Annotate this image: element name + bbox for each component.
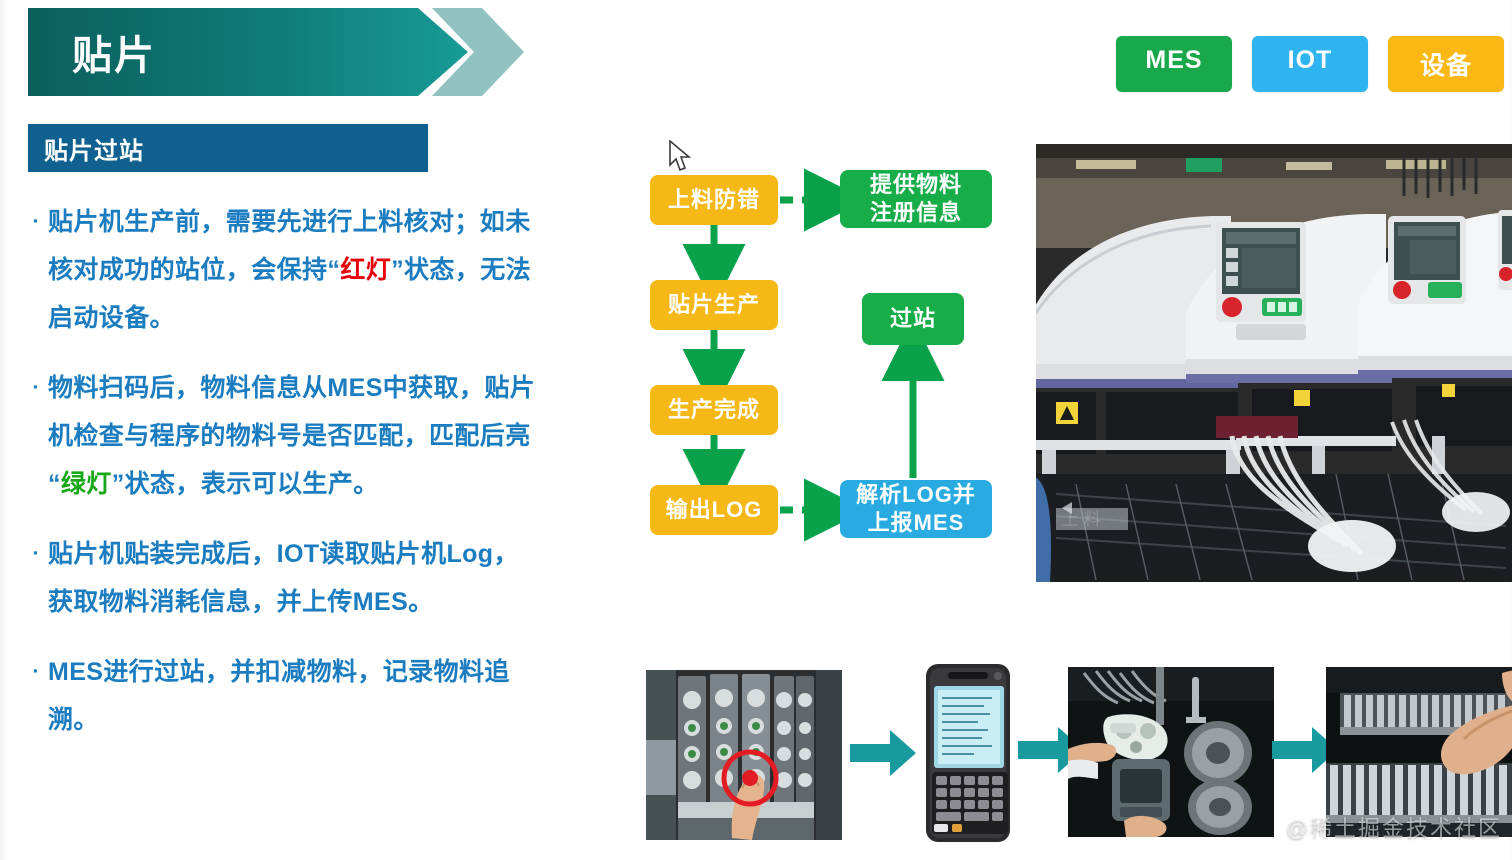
legend-chip-device[interactable]: 设备 [1388,36,1504,92]
page-edge-left [0,0,8,860]
bullet-item: ·MES进行过站，并扣减物料，记录物料追溯。 [24,648,544,744]
strip-arrow-1 [850,730,916,776]
bullet-text: 贴片机贴装完成后，IOT读取贴片机Log，获取物料消耗信息，并上传MES。 [48,530,544,626]
flow-node-log[interactable]: 输出LOG [650,485,778,535]
photo-scan-reel [1068,667,1274,837]
photo-handheld-terminal [912,660,1032,850]
flow-node-parse-line1: 解析LOG并 [856,481,976,509]
bullet-list: ·贴片机生产前，需要先进行上料核对；如未核对成功的站位，会保持“红灯”状态，无法… [24,198,544,766]
watermark: @稀土掘金技术社区 [1286,811,1502,843]
flow-node-parse[interactable]: 解析LOG并 上报MES [840,480,992,538]
bullet-item: ·物料扫码后，物料信息从MES中获取，贴片机检查与程序的物料号是否匹配，匹配后亮… [24,364,544,508]
smt-line-illustration: 上 料 [1036,144,1512,582]
svg-text:上 料: 上 料 [1062,510,1101,529]
flow-node-done[interactable]: 生产完成 [650,385,778,435]
process-photo-strip: @稀土掘金技术社区 [640,655,1512,855]
bullet-text: 物料扫码后，物料信息从MES中获取，贴片机检查与程序的物料号是否匹配，匹配后亮“… [48,364,544,508]
bullet-item: ·贴片机贴装完成后，IOT读取贴片机Log，获取物料消耗信息，并上传MES。 [24,530,544,626]
bullet-marker: · [24,648,48,744]
bullet-marker: · [24,530,48,626]
flow-node-register-line1: 提供物料 [870,171,962,199]
page-title: 贴片 [72,23,156,81]
bullet-segment: 贴片机贴装完成后，IOT读取贴片机Log，获取物料消耗信息，并上传MES。 [48,540,519,616]
bullet-marker: · [24,364,48,508]
slide-root: 贴片 贴片过站 ·贴片机生产前，需要先进行上料核对；如未核对成功的站位，会保持“… [0,0,1512,860]
flow-node-feeder[interactable]: 上料防错 [650,175,778,225]
flow-node-produce[interactable]: 贴片生产 [650,280,778,330]
smt-line-photo: 上 料 [1036,144,1512,582]
highlight-red-light: 红灯 [340,256,391,284]
flow-node-register-line2: 注册信息 [870,199,962,227]
bullet-segment: ”状态，表示可以生产。 [112,470,379,498]
legend-chip-mes[interactable]: MES [1116,36,1232,92]
highlight-green-light: 绿灯 [61,470,112,498]
bullet-marker: · [24,198,48,342]
bullet-text: 贴片机生产前，需要先进行上料核对；如未核对成功的站位，会保持“红灯”状态，无法启… [48,198,544,342]
flow-node-register[interactable]: 提供物料 注册信息 [840,170,992,228]
process-flow-diagram: 上料防错 贴片生产 生产完成 输出LOG 提供物料 注册信息 过站 解析LOG并… [640,140,1020,560]
photo-feeder-button-press [646,670,842,840]
bullet-text: MES进行过站，并扣减物料，记录物料追溯。 [48,648,544,744]
section-title-bar: 贴片过站 [28,124,428,172]
bullet-item: ·贴片机生产前，需要先进行上料核对；如未核对成功的站位，会保持“红灯”状态，无法… [24,198,544,342]
flow-node-parse-line2: 上报MES [868,509,965,537]
header-banner: 贴片 [28,8,524,96]
legend-chips: MES IOT 设备 [1116,36,1504,92]
legend-chip-iot[interactable]: IOT [1252,36,1368,92]
section-title-text: 贴片过站 [44,131,144,166]
mouse-cursor [668,140,694,174]
flow-node-pass[interactable]: 过站 [862,293,964,345]
bullet-segment: MES进行过站，并扣减物料，记录物料追溯。 [48,658,510,734]
